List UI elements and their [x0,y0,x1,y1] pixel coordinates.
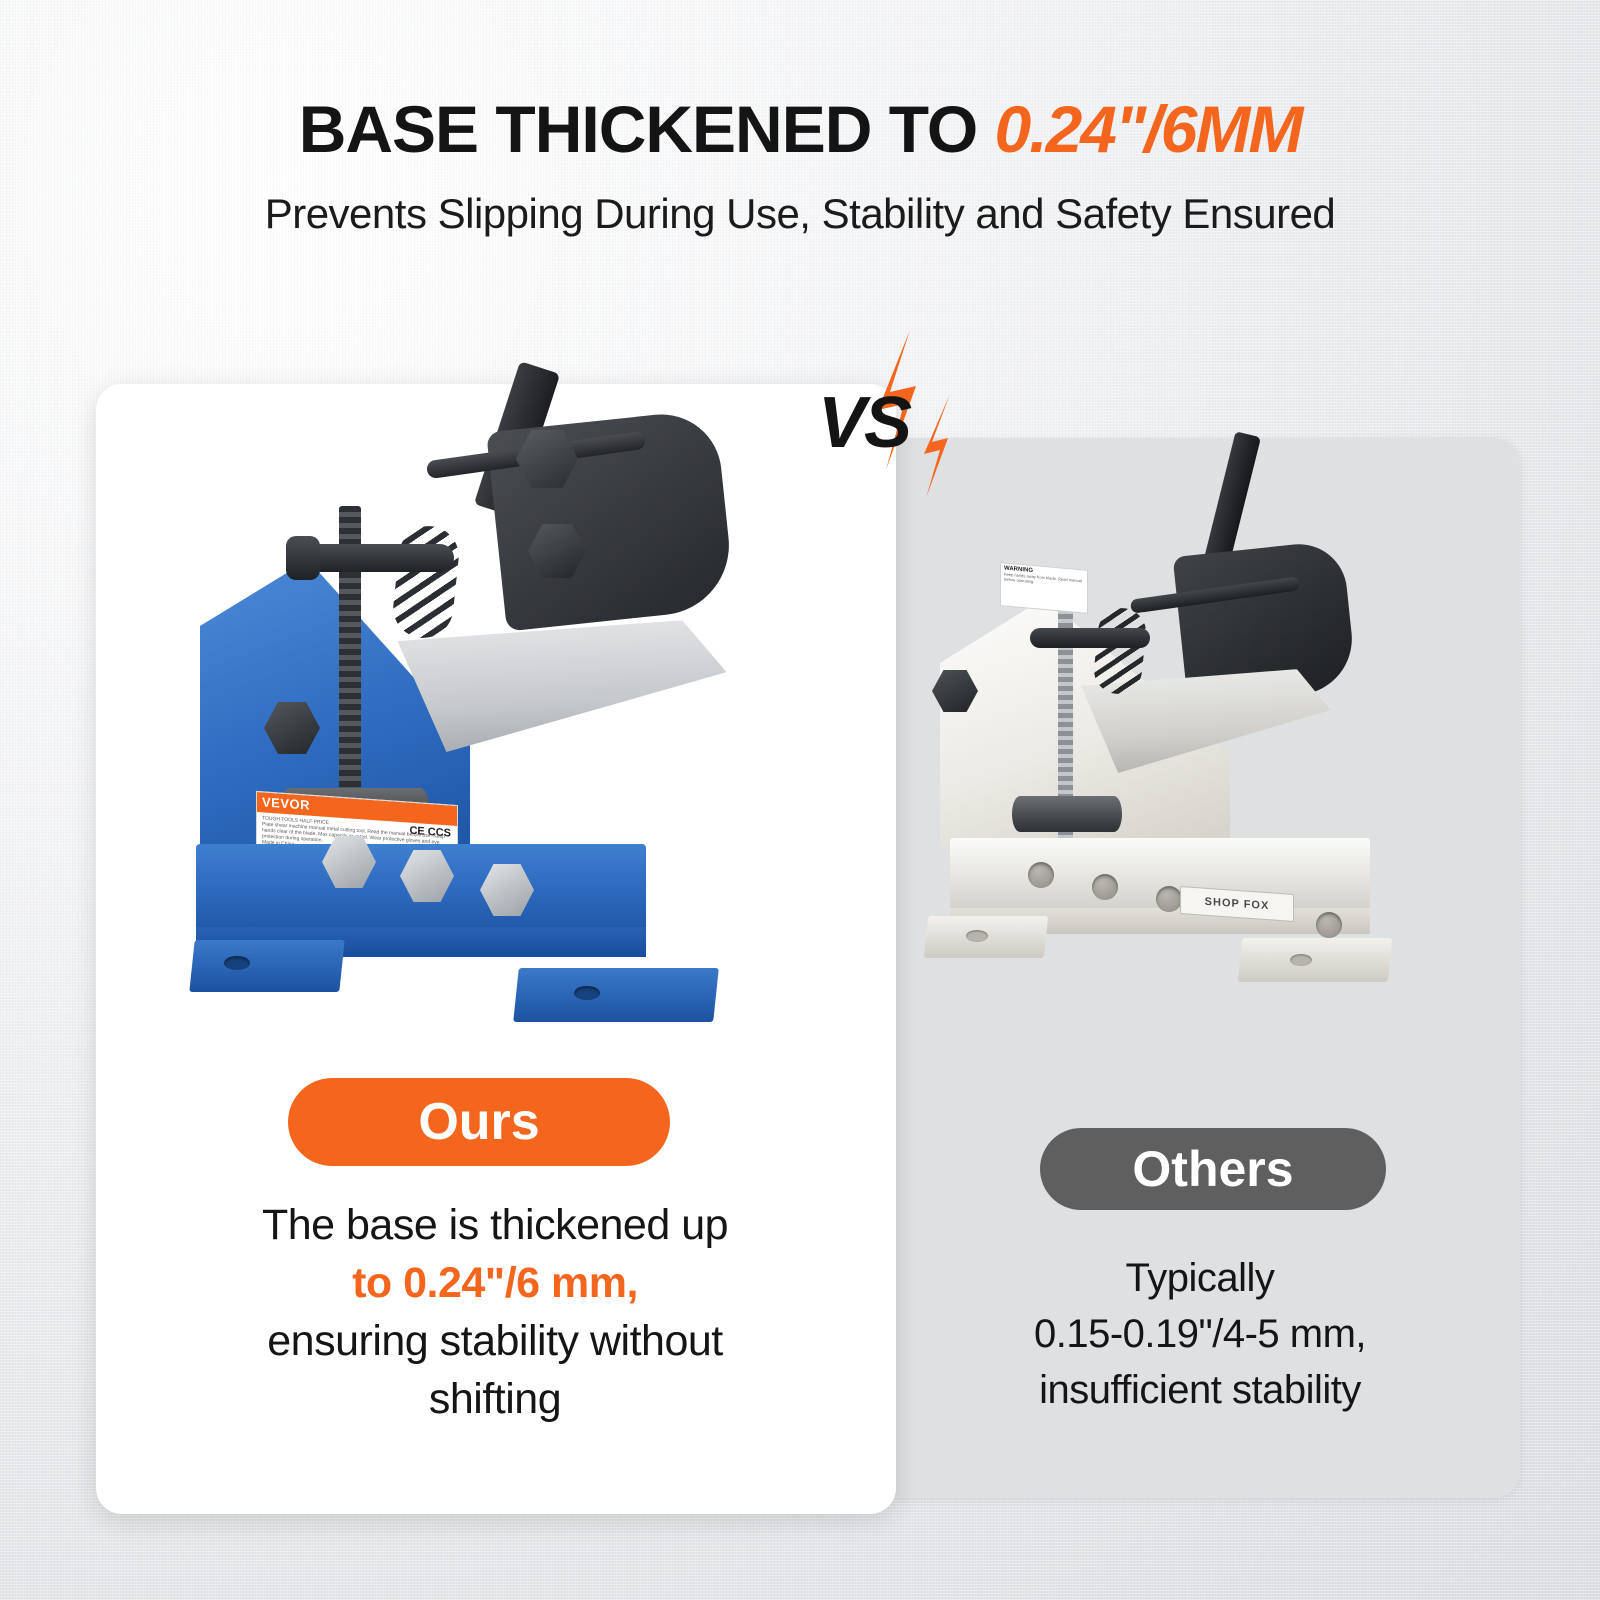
ours-clamp-knob [286,536,320,580]
page-subtitle: Prevents Slipping During Use, Stability … [0,190,1600,238]
ours-foot-hole-right [574,986,600,1000]
others-copy-line-3: insufficient stability [930,1362,1470,1418]
others-base-hole-3 [1156,886,1182,912]
others-foot-hole-left [966,930,988,942]
title-plain-text: BASE THICKENED TO [299,92,995,166]
ours-foot-hole-left [224,956,250,970]
others-copy-line-1: Typically [930,1250,1470,1306]
ours-foot-left [189,940,344,992]
others-description: Typically 0.15-0.19"/4-5 mm, insufficien… [930,1250,1470,1418]
others-product-image: WARNING Keep hands away from blade. Read… [880,438,1520,1138]
others-base-hole-2 [1092,874,1118,900]
ours-spring [390,523,461,641]
ours-copy-line-1: The base is thickened up [130,1196,860,1254]
others-foot-hole-right [1290,954,1312,966]
others-label-badge: Others [1040,1128,1386,1210]
others-clamp-disc [1012,796,1122,832]
page-title: BASE THICKENED TO 0.24"/6MM [0,96,1600,162]
ours-description: The base is thickened up to 0.24"/6 mm, … [130,1196,860,1428]
title-accent-text: 0.24"/6MM [995,92,1302,166]
ours-label-badge: Ours [288,1078,670,1166]
others-copy-line-2: 0.15-0.19"/4-5 mm, [930,1306,1470,1362]
header: BASE THICKENED TO 0.24"/6MM Prevents Sli… [0,96,1600,238]
ours-copy-line-4: shifting [130,1370,860,1428]
others-base-hole-1 [1028,862,1054,888]
ours-copy-line-3: ensuring stability without [130,1312,860,1370]
ours-blade [394,610,729,761]
others-clamp-tbar [1030,628,1150,648]
ours-foot-right [513,968,719,1022]
others-base-hole-4 [1316,912,1342,938]
others-warning-sticker: WARNING Keep hands away from blade. Read… [1000,562,1088,614]
others-foot-right [1238,938,1393,982]
ours-copy-highlight: to 0.24"/6 mm, [130,1254,860,1312]
ours-product-image: VEVOR TOUGH TOOLS HALF PRICE Plate shear… [96,384,896,1084]
